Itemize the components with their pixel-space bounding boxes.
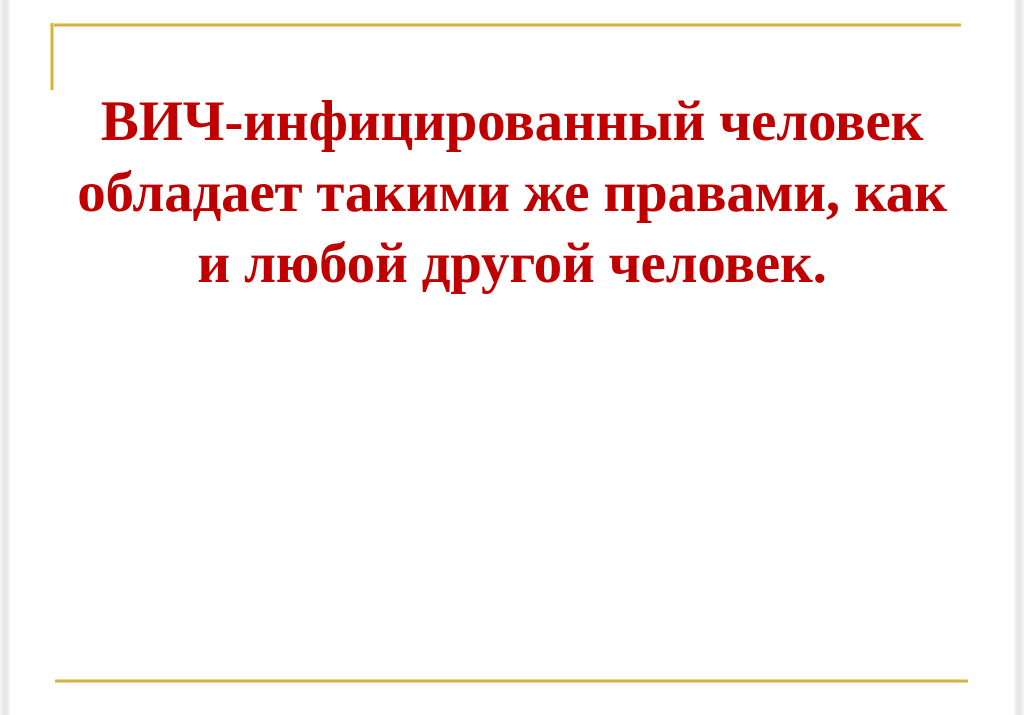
- slide-left-edge: [0, 0, 11, 715]
- slide-title: ВИЧ-инфицированный человек обладает таки…: [44, 86, 980, 299]
- slide-title-block: ВИЧ-инфицированный человек обладает таки…: [44, 86, 980, 299]
- top-gold-rule: [50, 23, 961, 27]
- left-gold-rule: [50, 23, 54, 90]
- presentation-slide: ВИЧ-инфицированный человек обладает таки…: [0, 0, 1024, 715]
- slide-right-edge: [1013, 0, 1024, 715]
- bottom-gold-rule: [55, 679, 968, 683]
